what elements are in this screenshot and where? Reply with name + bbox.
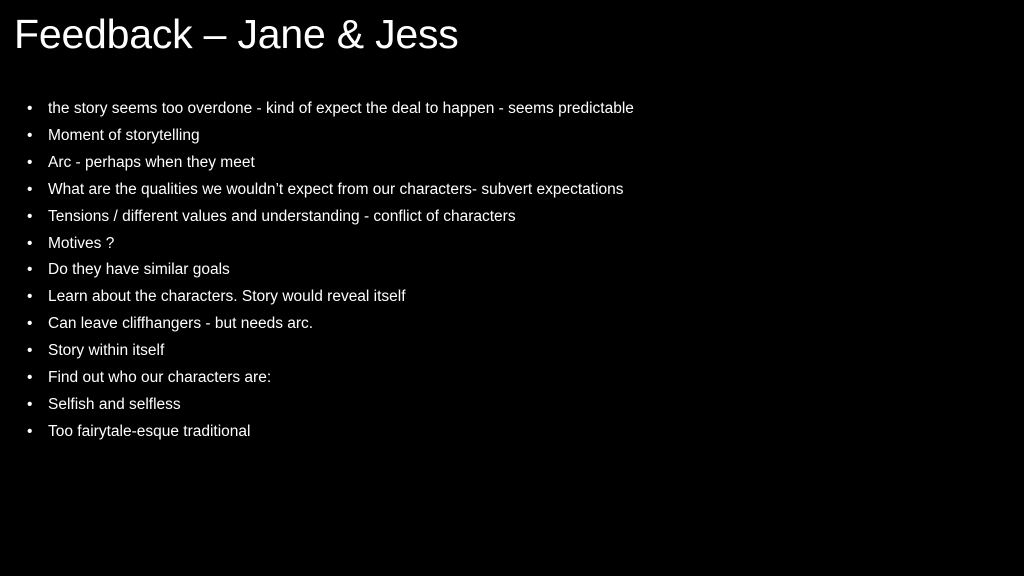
list-item-text: Selfish and selfless — [48, 396, 181, 413]
list-item-text: Story within itself — [48, 342, 164, 359]
bullet-point-icon: • — [27, 204, 39, 231]
list-item-text: Do they have similar goals — [48, 261, 230, 278]
list-item-text: Arc - perhaps when they meet — [48, 154, 255, 171]
list-item-text: Learn about the characters. Story would … — [48, 288, 406, 305]
bullet-point-icon: • — [27, 123, 39, 150]
list-item: • Can leave cliffhangers - but needs arc… — [24, 311, 984, 338]
feedback-bullet-list: • the story seems too overdone - kind of… — [24, 96, 984, 446]
list-item: • Find out who our characters are: — [24, 365, 984, 392]
list-item-text: Too fairytale-esque traditional — [48, 423, 250, 440]
list-item-text: Tensions / different values and understa… — [48, 208, 516, 225]
list-item: • Do they have similar goals — [24, 257, 984, 284]
list-item-text: Can leave cliffhangers - but needs arc. — [48, 315, 313, 332]
bullet-point-icon: • — [27, 231, 39, 258]
bullet-point-icon: • — [27, 257, 39, 284]
list-item-text: Moment of storytelling — [48, 127, 200, 144]
list-item: • Motives ? — [24, 231, 984, 258]
list-item: • Arc - perhaps when they meet — [24, 150, 984, 177]
list-item: • Tensions / different values and unders… — [24, 204, 984, 231]
list-item: • the story seems too overdone - kind of… — [24, 96, 984, 123]
bullet-point-icon: • — [27, 365, 39, 392]
list-item: • Learn about the characters. Story woul… — [24, 284, 984, 311]
list-item: • What are the qualities we wouldn’t exp… — [24, 177, 984, 204]
list-item: • Moment of storytelling — [24, 123, 984, 150]
list-item: • Story within itself — [24, 338, 984, 365]
bullet-point-icon: • — [27, 177, 39, 204]
list-item-text: Find out who our characters are: — [48, 369, 271, 386]
bullet-point-icon: • — [27, 419, 39, 446]
bullet-point-icon: • — [27, 392, 39, 419]
list-item-text: the story seems too overdone - kind of e… — [48, 100, 634, 117]
bullet-point-icon: • — [27, 338, 39, 365]
presentation-slide: Feedback – Jane & Jess • the story seems… — [0, 0, 1024, 576]
bullet-point-icon: • — [27, 150, 39, 177]
list-item: • Too fairytale-esque traditional — [24, 419, 984, 446]
page-title: Feedback – Jane & Jess — [14, 9, 974, 59]
list-item: • Selfish and selfless — [24, 392, 984, 419]
list-item-text: Motives ? — [48, 235, 114, 252]
list-item-text: What are the qualities we wouldn’t expec… — [48, 181, 624, 198]
bullet-point-icon: • — [27, 311, 39, 338]
bullet-point-icon: • — [27, 96, 39, 123]
bullet-point-icon: • — [27, 284, 39, 311]
